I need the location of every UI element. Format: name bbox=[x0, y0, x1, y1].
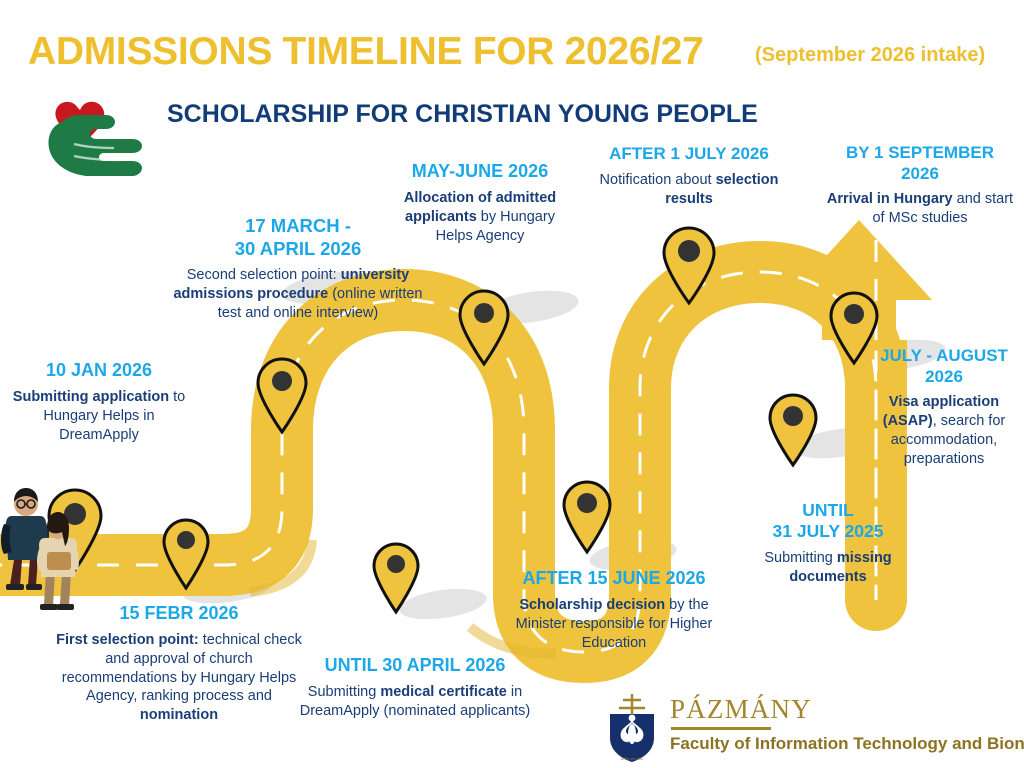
milestone-10-date: BY 1 SEPTEMBER 2026 bbox=[822, 143, 1018, 184]
milestone-7-body: Notification about selection results bbox=[576, 171, 802, 209]
milestone-10-body: Arrival in Hungary and start of MSc stud… bbox=[822, 190, 1018, 228]
milestone-8: UNTIL 31 JULY 2025 Submitting missing do… bbox=[726, 500, 930, 586]
milestone-3-body: Second selection point: university admis… bbox=[170, 266, 426, 323]
milestone-8-body: Submitting missing documents bbox=[726, 549, 930, 587]
milestone-6-date: AFTER 15 JUNE 2026 bbox=[506, 568, 722, 590]
pazmany-shield-icon: fides et ratio bbox=[600, 692, 664, 764]
faculty-name: Faculty of Information Technology and Bi… bbox=[670, 734, 1024, 754]
milestone-7: AFTER 1 JULY 2026 Notification about sel… bbox=[576, 144, 802, 208]
milestone-5-body: Allocation of admitted applicants by Hun… bbox=[386, 189, 574, 246]
milestone-2-date: 15 FEBR 2026 bbox=[48, 603, 310, 625]
svg-text:fides et ratio: fides et ratio bbox=[621, 756, 645, 761]
milestone-5-date: MAY-JUNE 2026 bbox=[386, 161, 574, 183]
milestone-9: JULY - AUGUST 2026 Visa application (ASA… bbox=[866, 346, 1022, 469]
milestone-4: UNTIL 30 APRIL 2026 Submitting medical c… bbox=[296, 655, 534, 721]
milestone-2: 15 FEBR 2026 First selection point: tech… bbox=[48, 603, 310, 725]
milestone-9-date: JULY - AUGUST 2026 bbox=[866, 346, 1022, 387]
pazmany-logo: fides et ratio PÁZMÁNY Faculty of Inform… bbox=[600, 692, 1020, 764]
milestone-5: MAY-JUNE 2026 Allocation of admitted app… bbox=[386, 161, 574, 245]
milestone-4-date: UNTIL 30 APRIL 2026 bbox=[296, 655, 534, 677]
map-pin-6 bbox=[564, 482, 610, 552]
logo-divider bbox=[671, 727, 771, 730]
milestone-8-date: UNTIL 31 JULY 2025 bbox=[726, 500, 930, 543]
milestone-7-date: AFTER 1 JULY 2026 bbox=[576, 144, 802, 165]
milestone-6-body: Scholarship decision by the Minister res… bbox=[506, 596, 722, 653]
milestone-2-body: First selection point: technical check a… bbox=[48, 631, 310, 725]
milestone-6: AFTER 15 JUNE 2026 Scholarship decision … bbox=[506, 568, 722, 652]
university-name: PÁZMÁNY bbox=[670, 696, 1024, 723]
milestone-9-body: Visa application (ASAP), search for acco… bbox=[866, 393, 1022, 468]
milestone-10: BY 1 SEPTEMBER 2026 Arrival in Hungary a… bbox=[822, 143, 1018, 228]
milestone-1: 10 JAN 2026 Submitting application to Hu… bbox=[6, 360, 192, 444]
infographic-canvas: ADMISSIONS TIMELINE FOR 2026/27 (Septemb… bbox=[0, 0, 1024, 768]
milestone-4-body: Submitting medical certificate in DreamA… bbox=[296, 683, 534, 721]
milestone-1-body: Submitting application to Hungary Helps … bbox=[6, 388, 192, 445]
milestone-1-date: 10 JAN 2026 bbox=[6, 360, 192, 382]
